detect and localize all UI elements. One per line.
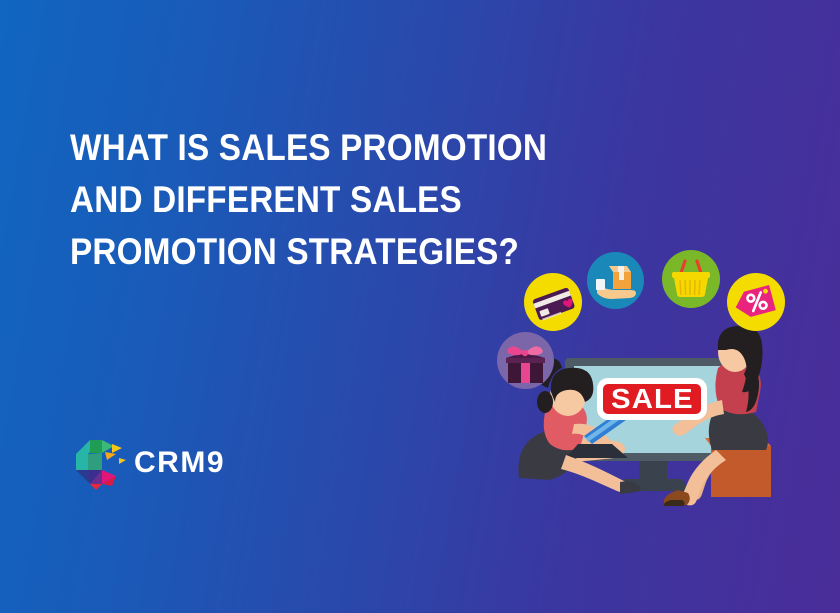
credit-card-badge[interactable] xyxy=(524,273,582,331)
headline-line-2: AND DIFFERENT SALES xyxy=(70,174,493,226)
sale-sign: SALE xyxy=(597,378,707,420)
sale-sign-label: SALE xyxy=(611,385,694,413)
gift-box-icon xyxy=(506,346,545,383)
discount-badge[interactable] xyxy=(727,273,785,331)
basket-badge[interactable] xyxy=(662,250,720,308)
poster-canvas: WHAT IS SALES PROMOTION AND DIFFERENT SA… xyxy=(0,0,840,613)
gift-badge[interactable] xyxy=(497,332,554,389)
headline-line-3: PROMOTION STRATEGIES? xyxy=(70,226,493,278)
logo-wordmark: CRM9 xyxy=(134,446,225,480)
brand-logo[interactable]: CRM9 xyxy=(72,432,272,496)
page-title: WHAT IS SALES PROMOTION AND DIFFERENT SA… xyxy=(70,122,540,278)
headline-line-1: WHAT IS SALES PROMOTION xyxy=(70,122,493,174)
delivery-badge[interactable] xyxy=(587,252,644,309)
crm9-logo-mark xyxy=(72,432,132,492)
